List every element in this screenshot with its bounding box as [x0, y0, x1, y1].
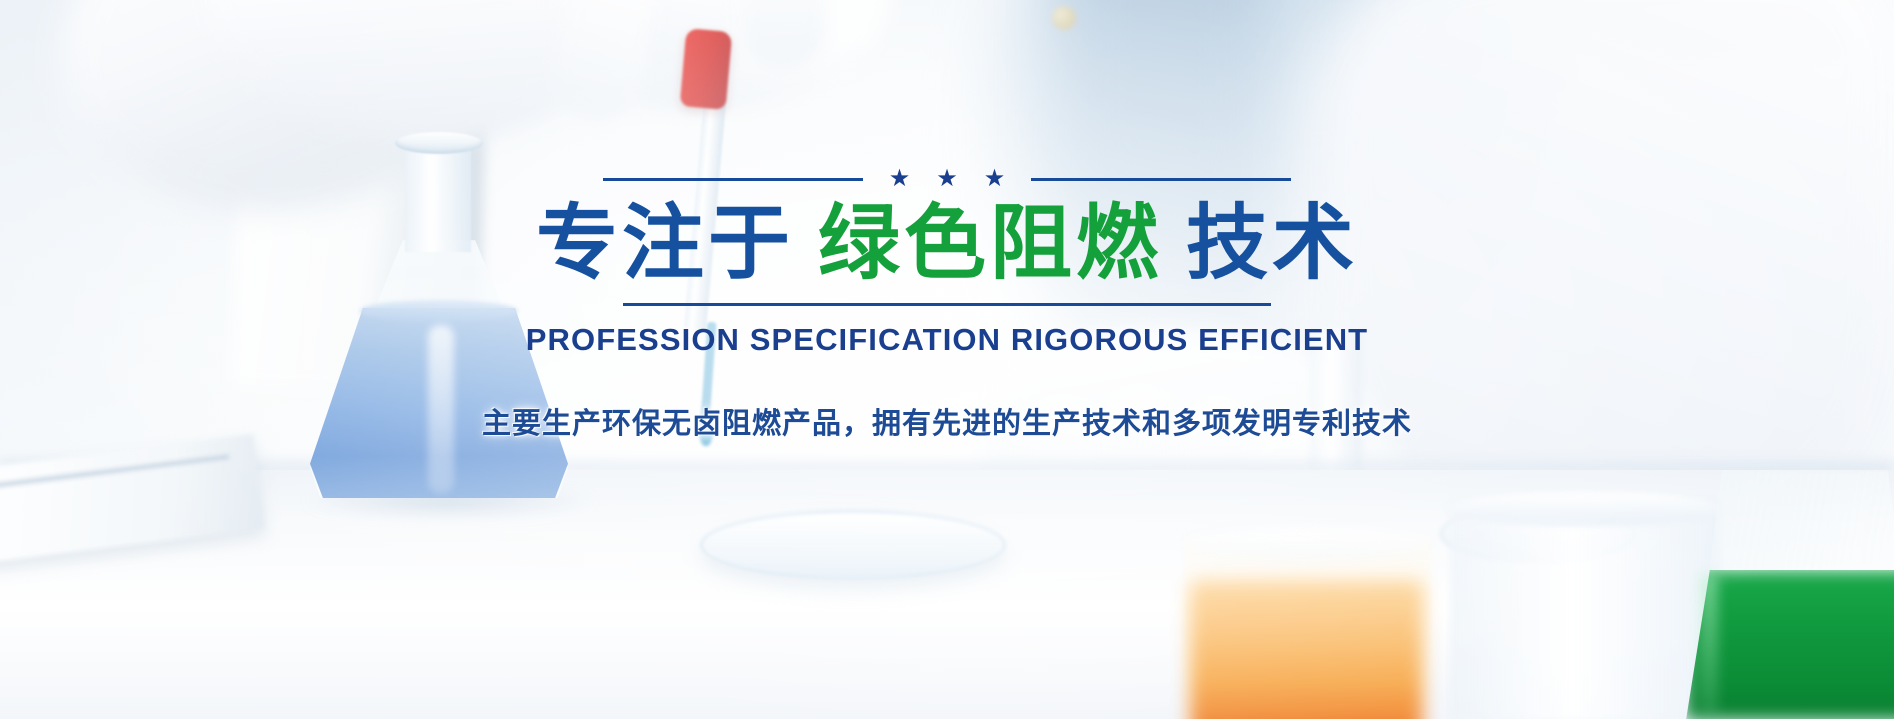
- subtitle-english: PROFESSION SPECIFICATION RIGOROUS EFFICI…: [0, 322, 1894, 358]
- star-group: ★ ★ ★: [889, 167, 1006, 191]
- star-icon: ★: [889, 167, 911, 191]
- hero-banner: ★ ★ ★ 专注于绿色阻燃技术 PROFESSION SPECIFICATION…: [0, 0, 1894, 719]
- beaker-clear: [1450, 500, 1720, 719]
- pipette-bulb-icon: [680, 28, 733, 110]
- rule-left: [603, 178, 863, 181]
- rule-right: [1031, 178, 1291, 181]
- decorative-rule-row: ★ ★ ★: [0, 168, 1894, 190]
- rule-under-headline: [623, 303, 1271, 306]
- beaker-orange-rim: [1183, 528, 1433, 558]
- beaker-orange-liquid: [1190, 580, 1423, 719]
- tagline-chinese: 主要生产环保无卤阻燃产品，拥有先进的生产技术和多项发明专利技术: [0, 400, 1894, 442]
- petri-dish-center: [700, 510, 1006, 580]
- headline-part-1: 专注于: [536, 198, 794, 289]
- headline-part-2: 绿色阻燃: [818, 198, 1162, 289]
- beaker-clear-rim: [1446, 492, 1724, 526]
- headline-part-3: 技术: [1186, 198, 1358, 289]
- lab-coat-button-icon: [1052, 6, 1076, 30]
- star-icon: ★: [936, 167, 958, 191]
- banner-text-block: ★ ★ ★ 专注于绿色阻燃技术 PROFESSION SPECIFICATION…: [0, 168, 1894, 442]
- page-title: 专注于绿色阻燃技术: [0, 196, 1894, 293]
- flask-green-highlight: [1700, 575, 1718, 715]
- flask-rim: [395, 132, 483, 154]
- star-icon: ★: [984, 167, 1006, 191]
